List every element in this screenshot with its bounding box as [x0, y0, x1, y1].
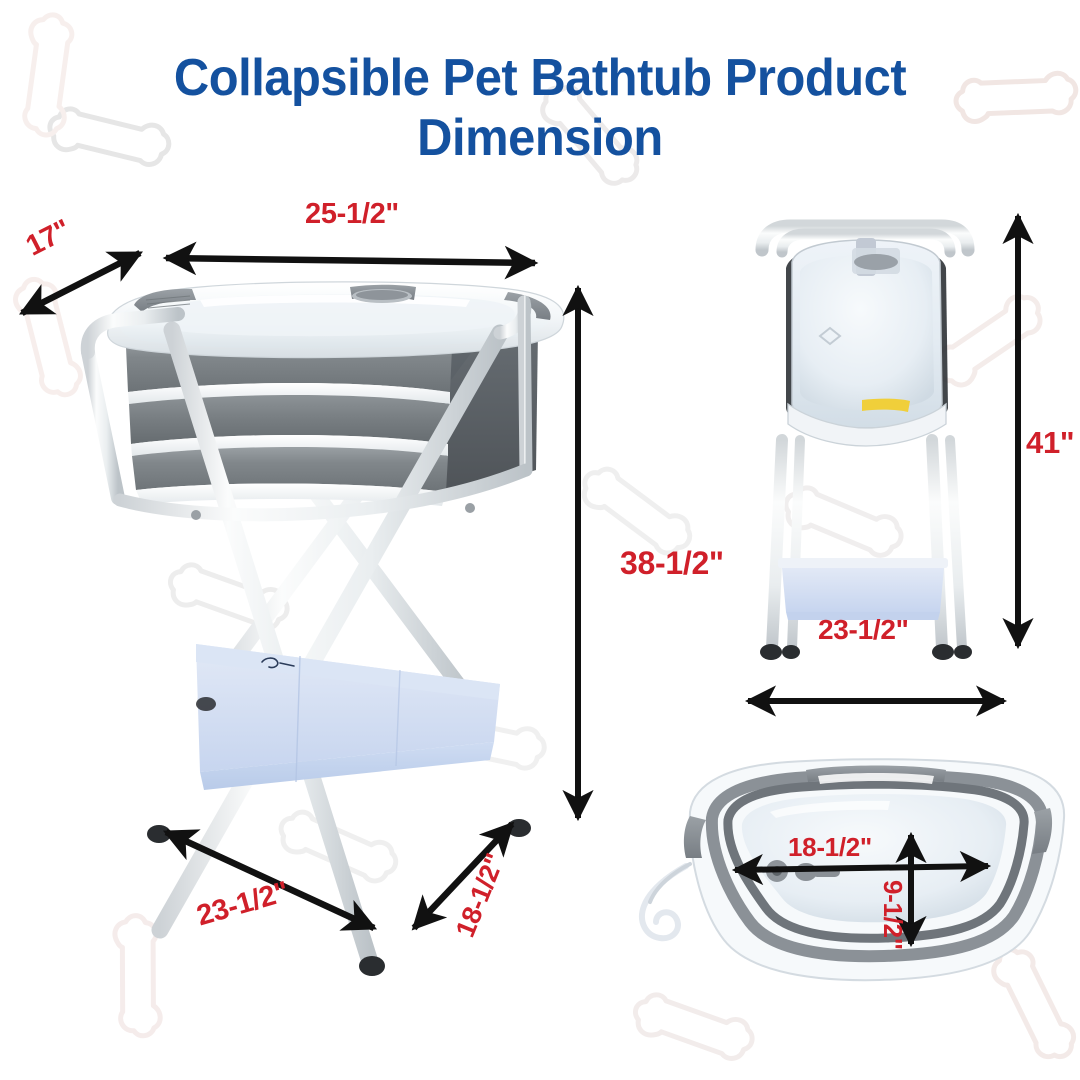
dimension-label-height-38-5: 38-1/2": [620, 545, 724, 582]
infographic-canvas: Collapsible Pet Bathtub Product Dimensio…: [0, 0, 1080, 1080]
dimension-label-folded-width-23-5: 23-1/2": [818, 614, 909, 646]
illustration-folded-stand: [760, 226, 972, 660]
page-title: Collapsible Pet Bathtub Product Dimensio…: [32, 48, 1047, 168]
dimension-label-inner-width-9-5: 9-1/2": [877, 880, 908, 950]
folded-fabric-shelf: [778, 558, 948, 620]
page-title-line-1: Collapsible Pet Bathtub Product: [32, 48, 1047, 108]
dimension-label-inner-length-18-5: 18-1/2": [788, 832, 872, 863]
illustration-tub-top-view: [642, 759, 1064, 980]
stand-fabric-shelf: [196, 644, 500, 790]
dimension-label-folded-height-41: 41": [1026, 425, 1074, 461]
page-title-line-2: Dimension: [32, 108, 1047, 168]
dimension-label-width-25-5: 25-1/2": [305, 198, 399, 231]
